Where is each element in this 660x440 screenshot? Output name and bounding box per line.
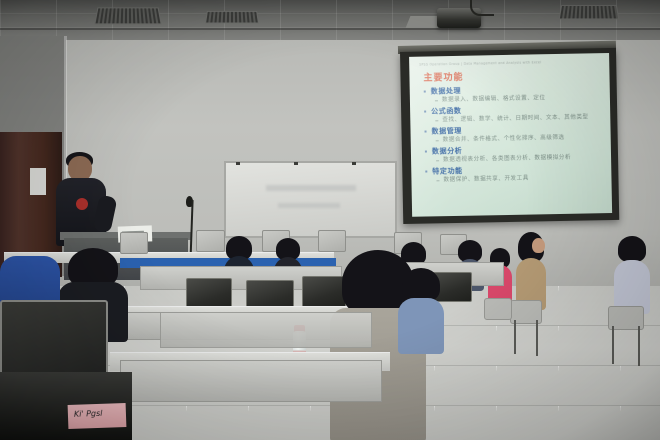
classroom-photo: SPSS Operation Group | Data Management a… [0, 0, 660, 440]
projection-screen: SPSS Operation Group | Data Management a… [400, 48, 619, 224]
whiteboard-clip [236, 162, 240, 165]
slide-section: 特定功能 数据保护、数据共享、开发工具 [425, 163, 605, 185]
attendee-hair [402, 268, 440, 302]
door-notice-paper [30, 168, 46, 195]
monitor [196, 230, 225, 252]
chair-leg [536, 320, 538, 356]
desk-partition [160, 312, 372, 348]
projector-cable [470, 0, 494, 16]
desk-partition [120, 360, 382, 402]
attendee [398, 268, 444, 352]
attendee-torso [398, 298, 444, 354]
ceiling-vent-icon [205, 11, 259, 23]
chair-leg [612, 326, 614, 364]
whiteboard-clip [294, 162, 298, 165]
attendee-head [532, 238, 545, 253]
whiteboard-clip [352, 162, 356, 165]
slide-section: 数据处理 数据录入、数据编辑、格式设置、定位 [424, 83, 604, 105]
slide-section: 数据分析 数据透视表分析、各类图表分析、数据模拟分析 [425, 143, 605, 165]
slide-canvas: SPSS Operation Group | Data Management a… [409, 53, 612, 217]
whiteboard-erased-writing [266, 185, 356, 191]
attendee-hair [618, 236, 646, 262]
slide-body: 数据处理 数据录入、数据编辑、格式设置、定位 公式函数 查找、逻辑、数学、统计、… [424, 83, 606, 186]
whiteboard-erased-writing [278, 203, 340, 208]
slide-title: 主要功能 [423, 70, 463, 84]
ceiling-vent-icon [94, 8, 161, 25]
desk-label: Ki' Pgsl [68, 403, 127, 429]
shirt-emblem-icon [76, 198, 88, 210]
slide-section: 公式函数 查找、逻辑、数学、统计、日期时间、文本、其他类型 [424, 103, 604, 125]
desk-label-text: Ki' Pgsl [74, 409, 103, 419]
whiteboard [224, 161, 397, 238]
ceiling-vent-icon [559, 5, 620, 19]
slide-section: 数据管理 数据合并、条件格式、个性化排序、高级筛选 [424, 123, 604, 145]
chair [484, 298, 512, 320]
attendee [516, 232, 546, 310]
slide-header: SPSS Operation Group | Data Management a… [419, 59, 603, 67]
chair-leg [638, 326, 640, 366]
attendee [614, 236, 650, 312]
chair-leg [514, 320, 516, 354]
ceiling-seam [0, 28, 660, 30]
monitor [318, 230, 346, 252]
